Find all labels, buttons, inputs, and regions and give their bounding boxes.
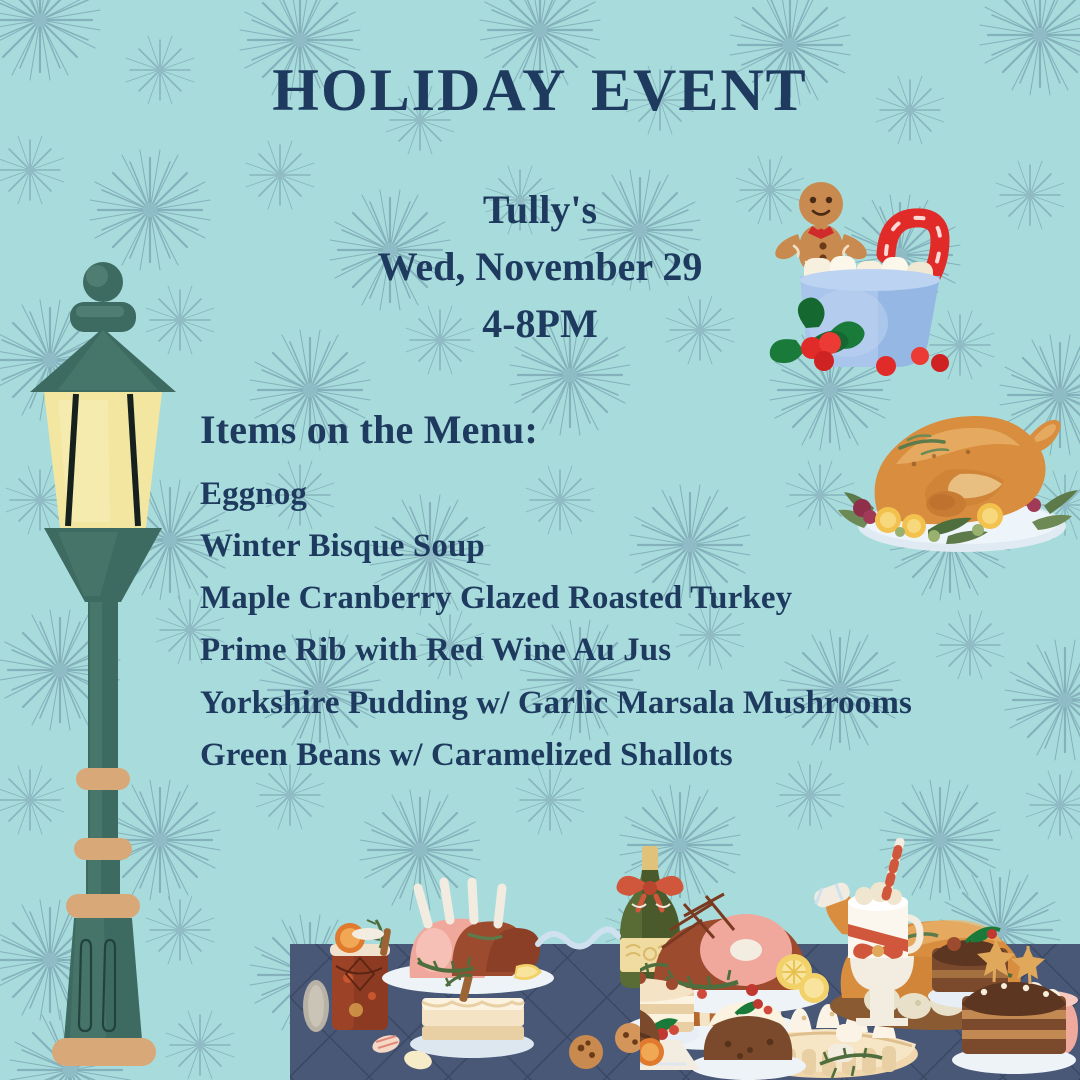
marshmallow: [836, 1024, 862, 1042]
list-item: Yorkshire Pudding w/ Garlic Marsala Mush…: [200, 677, 1000, 729]
list-item: Prime Rib with Red Wine Au Jus: [200, 624, 1000, 676]
list-item: Green Beans w/ Caramelized Shallots: [200, 729, 1000, 781]
page-title: Holiday Event: [0, 38, 1080, 124]
lamp-band: [74, 838, 132, 860]
lamp-band: [66, 894, 140, 918]
venue-name: Tully's: [0, 182, 1080, 239]
event-details-block: Tully's Wed, November 29 4-8PM: [0, 182, 1080, 352]
holiday-feast-table-right-illustration: [640, 838, 1080, 1080]
holiday-event-poster: Holiday Event Tully's Wed, November 29 4…: [0, 0, 1080, 1080]
event-time: 4-8PM: [0, 296, 1080, 353]
lamp-band: [76, 768, 130, 790]
event-date: Wed, November 29: [0, 239, 1080, 296]
lamp-base-band: [52, 1038, 156, 1066]
holly-berry: [876, 356, 896, 376]
menu-block: Items on the Menu: Eggnog Winter Bisque …: [200, 408, 1000, 781]
list-item: Eggnog: [200, 468, 1000, 520]
lamp-post-illustration: [18, 250, 188, 1080]
cocoa-goblet: [848, 842, 920, 1026]
ribbon-garnish: [538, 929, 618, 946]
holly-berry: [931, 354, 949, 372]
cookie: [569, 1035, 603, 1069]
list-item: Winter Bisque Soup: [200, 520, 1000, 572]
menu-heading: Items on the Menu:: [200, 408, 1000, 452]
list-item: Maple Cranberry Glazed Roasted Turkey: [200, 572, 1000, 624]
menu-list: Eggnog Winter Bisque Soup Maple Cranberr…: [200, 468, 1000, 781]
